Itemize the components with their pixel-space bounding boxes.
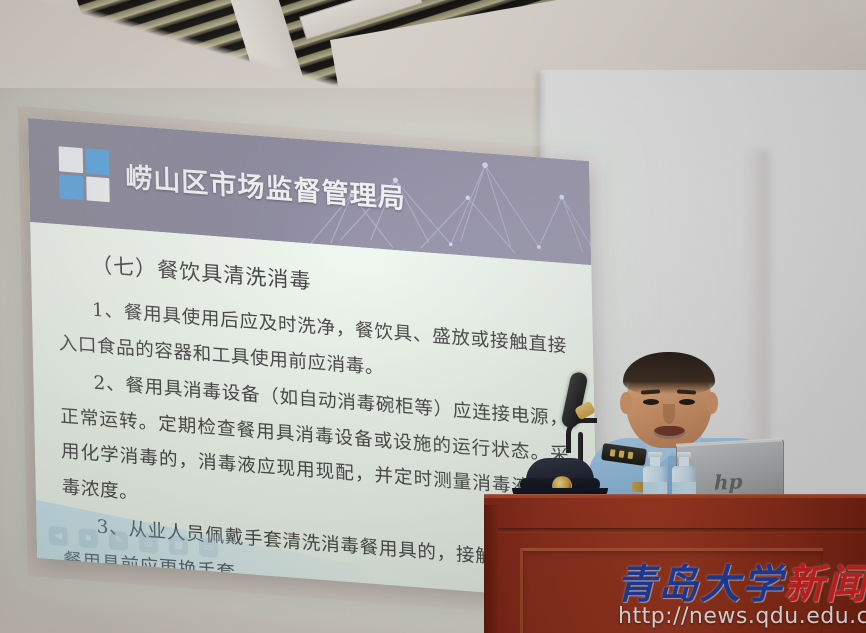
eye-left [643,399,659,405]
prev-icon[interactable]: ◀ [49,526,68,546]
logo-cell-top-left [59,146,83,172]
logo-cell-bottom-left [59,174,83,200]
slides-icon[interactable]: ▦ [169,535,188,555]
lectern-left-side [484,505,498,633]
paragraph-indent [60,386,94,389]
presentation-photo: 崂山区市场监督管理局 （七）餐饮具清洗消毒 1、餐用具使用后应及时洗净，餐饮具、… [0,0,866,633]
hp-logo-icon: hp [714,469,743,494]
watermark-red-text: 新闻 [784,561,866,608]
logo-cell-bottom-right [86,176,110,202]
four-square-logo [59,146,110,202]
eye-right [679,399,695,405]
paragraph-indent [58,313,92,316]
ear-left [620,392,632,414]
paragraph-1-text: 1、餐用具使用后应及时洗净，餐饮具、盛放或接触直接入口食品的容器和工具使用前应消… [58,300,567,379]
nose [663,404,675,424]
lectern-lip [484,528,866,533]
menu-icon[interactable]: ▭ [199,537,218,557]
watermark: 青岛大学新闻网 http://news.qdu.edu.cn [604,552,862,628]
target-icon[interactable]: ◎ [139,533,158,553]
pen-icon[interactable]: ✎ [109,530,128,550]
logo-cell-top-right [85,148,109,174]
stop-icon[interactable]: ■ [79,528,98,548]
watermark-title: 青岛大学新闻网 [616,552,866,610]
ear-right [706,392,718,414]
watermark-url: http://news.qdu.edu.cn [618,604,866,629]
watermark-blue-text: 青岛大学 [616,561,784,608]
mouth [654,426,685,439]
hair [623,352,715,394]
